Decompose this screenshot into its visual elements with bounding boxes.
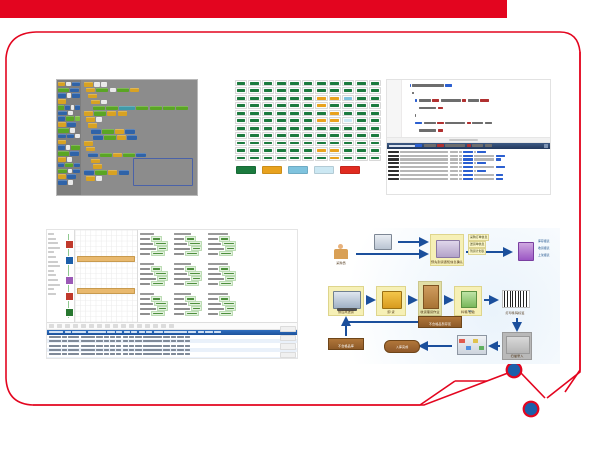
status-cell[interactable] [329, 140, 341, 146]
palette-block-logic[interactable] [66, 116, 74, 121]
block-control[interactable] [107, 111, 116, 116]
table-column-header[interactable] [65, 331, 71, 333]
tree-item[interactable] [48, 251, 54, 253]
status-cell[interactable] [342, 95, 354, 101]
toolbar-button[interactable] [153, 324, 158, 328]
status-cell[interactable] [262, 132, 274, 138]
block-row[interactable] [84, 88, 197, 93]
palette-block-logic[interactable] [58, 105, 64, 110]
status-cell[interactable] [275, 125, 287, 131]
code-line[interactable] [405, 143, 550, 148]
status-cell[interactable] [342, 125, 354, 131]
status-cell[interactable] [288, 125, 300, 131]
palette-block-control[interactable] [58, 140, 66, 145]
status-cell[interactable] [329, 102, 341, 108]
status-cell[interactable] [275, 117, 287, 123]
table-column-header[interactable] [124, 331, 130, 333]
palette-block-text[interactable] [68, 169, 72, 174]
block-text[interactable] [96, 117, 102, 122]
status-cell[interactable] [329, 155, 341, 161]
tree-item[interactable] [48, 293, 56, 295]
block-control[interactable] [84, 111, 93, 116]
palette-block-variable[interactable] [67, 174, 76, 179]
palette-block-text[interactable] [68, 180, 73, 185]
status-cell[interactable] [275, 95, 287, 101]
barcode-label-node[interactable]: 打印条码标签 [499, 286, 531, 316]
palette-block-variable[interactable] [58, 111, 67, 116]
status-cell[interactable] [342, 117, 354, 123]
receiving-desk-node[interactable] [368, 232, 396, 254]
status-cell[interactable] [235, 87, 247, 93]
palette-row[interactable] [58, 128, 80, 132]
status-cell[interactable] [315, 80, 327, 86]
status-cell[interactable] [355, 147, 367, 153]
block-control[interactable] [84, 141, 93, 146]
status-cell[interactable] [288, 110, 300, 116]
status-cell[interactable] [235, 117, 247, 123]
palette-block-text[interactable] [68, 111, 73, 116]
block-control[interactable] [84, 82, 93, 87]
supplier-delivery-node[interactable]: 供应商送货 [328, 286, 364, 316]
blocks-editor-screenshot[interactable] [56, 79, 198, 196]
block-row[interactable] [84, 82, 197, 87]
status-cell[interactable] [262, 147, 274, 153]
code-text-area[interactable] [387, 80, 550, 137]
logistics-flowchart-screenshot[interactable]: 供应商送货卸 货收货理货作业料箱 检验打印条码标签扫描录入入库完成不合格品暂存区… [322, 228, 560, 364]
block-variable[interactable] [125, 129, 135, 134]
palette-row[interactable] [58, 82, 80, 86]
palette-block-variable[interactable] [58, 180, 67, 185]
block-logic[interactable] [102, 129, 114, 134]
palette-row[interactable] [58, 151, 80, 155]
table-column-header[interactable] [154, 331, 163, 333]
status-cell[interactable] [302, 117, 314, 123]
data-group[interactable] [174, 263, 206, 287]
toolbar-button[interactable] [145, 324, 150, 328]
tree-item[interactable] [48, 288, 54, 290]
palette-block-variable[interactable] [75, 105, 80, 110]
blocks-canvas[interactable] [81, 80, 197, 195]
table-column-header[interactable] [72, 331, 86, 333]
block-variable[interactable] [136, 153, 146, 158]
status-cell[interactable] [329, 147, 341, 153]
status-cell[interactable] [302, 132, 314, 138]
block-variable[interactable] [91, 129, 101, 134]
status-cell[interactable] [235, 102, 247, 108]
table-column-header[interactable] [139, 331, 145, 333]
block-row[interactable] [84, 117, 197, 122]
palette-block-text[interactable] [67, 93, 72, 98]
rail-node[interactable] [65, 256, 74, 265]
status-cell[interactable] [288, 95, 300, 101]
toolbar-button[interactable] [49, 324, 54, 328]
palette-block-variable[interactable] [73, 169, 80, 174]
status-cell[interactable] [302, 102, 314, 108]
block-logic[interactable] [123, 153, 135, 158]
sheet-data-groups[interactable] [138, 230, 297, 322]
status-cell[interactable] [369, 117, 381, 123]
toolbar-button[interactable] [137, 324, 142, 328]
table-column-header[interactable] [164, 331, 187, 333]
status-cell[interactable] [235, 95, 247, 101]
toolbar-button[interactable] [97, 324, 102, 328]
tree-item[interactable] [48, 274, 56, 276]
palette-row[interactable] [58, 111, 80, 115]
status-cell[interactable] [355, 110, 367, 116]
code-line[interactable] [405, 105, 550, 110]
status-cell[interactable] [302, 125, 314, 131]
palette-block-variable[interactable] [72, 82, 80, 87]
palette-block-variable[interactable] [67, 122, 76, 127]
toolbar-button[interactable] [73, 324, 78, 328]
toolbar-button[interactable] [161, 324, 166, 328]
palette-block-control[interactable] [58, 122, 66, 127]
palette-block-logic[interactable] [58, 128, 69, 133]
status-cell[interactable] [329, 95, 341, 101]
palette-block-control[interactable] [58, 99, 66, 104]
status-cell[interactable] [342, 155, 354, 161]
block-logic[interactable] [100, 153, 112, 158]
block-logic[interactable] [95, 170, 107, 175]
palette-row[interactable] [58, 146, 80, 150]
rail-node[interactable] [65, 240, 74, 249]
palette-block-logic[interactable] [65, 163, 73, 168]
toolbar-button[interactable] [57, 324, 62, 328]
palette-row[interactable] [58, 134, 80, 138]
palette-block-text[interactable] [66, 82, 71, 87]
status-cell[interactable] [288, 140, 300, 146]
toolbar-button[interactable] [129, 324, 134, 328]
side-button[interactable] [280, 326, 296, 332]
block-row[interactable] [84, 141, 197, 146]
table-side-buttons[interactable] [280, 326, 296, 359]
block-control[interactable] [108, 170, 117, 175]
table-column-header[interactable] [131, 331, 137, 333]
block-control[interactable] [130, 88, 139, 93]
code-line[interactable] [405, 128, 550, 133]
data-group[interactable] [140, 263, 172, 287]
gantt-timeline[interactable] [74, 230, 138, 322]
status-cell[interactable] [342, 140, 354, 146]
palette-block-control[interactable] [58, 157, 66, 162]
status-cell[interactable] [248, 80, 260, 86]
status-cell[interactable] [369, 147, 381, 153]
status-cell[interactable] [315, 87, 327, 93]
block-logic[interactable] [106, 106, 118, 111]
palette-row[interactable] [58, 140, 80, 144]
tree-item[interactable] [48, 270, 54, 272]
order-data-table[interactable] [47, 322, 297, 357]
status-cell[interactable] [302, 95, 314, 101]
block-variable[interactable] [93, 135, 103, 140]
block-row[interactable] [84, 129, 197, 134]
status-cell[interactable] [262, 140, 274, 146]
tree-item[interactable] [48, 256, 56, 258]
block-control[interactable] [118, 111, 127, 116]
status-cell[interactable] [315, 147, 327, 153]
tree-item[interactable] [48, 238, 56, 240]
status-cell[interactable] [235, 80, 247, 86]
toolbar-button[interactable] [169, 324, 174, 328]
status-grid[interactable] [234, 79, 382, 162]
status-cell[interactable] [275, 132, 287, 138]
table-body[interactable] [47, 335, 297, 359]
block-control[interactable] [91, 100, 100, 105]
block-control[interactable] [86, 88, 95, 93]
status-cell[interactable] [355, 132, 367, 138]
block-row[interactable] [84, 153, 197, 158]
block-control[interactable] [113, 153, 122, 158]
status-cell[interactable] [275, 80, 287, 86]
status-cell[interactable] [369, 95, 381, 101]
status-cell[interactable] [302, 140, 314, 146]
palette-block-text[interactable] [66, 145, 70, 150]
status-cell[interactable] [262, 155, 274, 161]
status-cell[interactable] [248, 132, 260, 138]
block-text[interactable] [96, 176, 102, 181]
status-cell[interactable] [275, 102, 287, 108]
status-cell[interactable] [315, 155, 327, 161]
status-grid-screenshot[interactable] [234, 79, 382, 197]
status-cell[interactable] [235, 132, 247, 138]
palette-block-variable[interactable] [74, 163, 80, 168]
status-cell[interactable] [369, 155, 381, 161]
palette-block-variable[interactable] [58, 145, 65, 150]
status-cell[interactable] [315, 140, 327, 146]
nonconforming-store-node[interactable]: 不合格品库 [328, 338, 364, 350]
status-cell[interactable] [288, 155, 300, 161]
rail-node[interactable] [65, 276, 74, 285]
unloading-node[interactable]: 卸 货 [376, 286, 406, 316]
status-cell[interactable] [262, 110, 274, 116]
status-cell[interactable] [248, 125, 260, 131]
block-control[interactable] [117, 135, 126, 140]
putaway-node[interactable] [454, 332, 488, 360]
palette-block-variable[interactable] [58, 116, 65, 121]
status-cell[interactable] [235, 140, 247, 146]
block-control[interactable] [88, 94, 97, 99]
status-cell[interactable] [288, 117, 300, 123]
erp-system-node[interactable]: 预先到货通知信息确认 [430, 234, 464, 266]
table-column-header[interactable] [214, 331, 220, 333]
table-column-header[interactable] [88, 331, 106, 333]
side-button[interactable] [280, 352, 296, 358]
block-logic[interactable] [104, 135, 116, 140]
block-row[interactable] [84, 135, 197, 140]
status-cell[interactable] [248, 147, 260, 153]
tree-item[interactable] [48, 261, 58, 263]
status-cell[interactable] [235, 147, 247, 153]
block-logic[interactable] [176, 106, 188, 111]
status-cell[interactable] [262, 80, 274, 86]
table-column-header[interactable] [146, 331, 152, 333]
palette-block-variable[interactable] [58, 93, 66, 98]
block-logic[interactable] [136, 106, 148, 111]
status-cell[interactable] [248, 155, 260, 161]
table-column-header[interactable] [116, 331, 122, 333]
status-cell[interactable] [329, 132, 341, 138]
code-line[interactable] [405, 83, 550, 88]
status-cell[interactable] [329, 80, 341, 86]
block-variable[interactable] [119, 170, 129, 175]
palette-row[interactable] [58, 157, 80, 161]
palette-row[interactable] [58, 117, 80, 121]
report-node[interactable] [514, 240, 536, 264]
status-cell[interactable] [235, 125, 247, 131]
horizontal-scrollbar[interactable] [387, 137, 550, 143]
palette-block-text[interactable] [71, 105, 74, 110]
toolbar-button[interactable] [113, 324, 118, 328]
gantt-bar[interactable] [77, 256, 135, 262]
side-button[interactable] [280, 335, 296, 341]
status-cell[interactable] [288, 80, 300, 86]
palette-row[interactable] [58, 88, 80, 92]
status-cell[interactable] [329, 87, 341, 93]
palette-block-text[interactable] [67, 157, 72, 162]
status-cell[interactable] [342, 147, 354, 153]
status-cell[interactable] [369, 110, 381, 116]
scan-entry-node[interactable]: 扫描录入 [502, 332, 532, 360]
palette-block-variable[interactable] [72, 93, 80, 98]
rail-node[interactable] [65, 292, 74, 301]
code-line[interactable] [405, 90, 550, 95]
palette-block-logic[interactable] [58, 151, 69, 156]
table-row[interactable] [47, 357, 297, 359]
status-cell[interactable] [248, 117, 260, 123]
table-column-header[interactable] [107, 331, 115, 333]
palette-row[interactable] [58, 94, 80, 98]
status-cell[interactable] [248, 140, 260, 146]
status-cell[interactable] [355, 102, 367, 108]
log-row[interactable] [388, 177, 549, 181]
tree-item[interactable] [48, 247, 60, 249]
data-group[interactable] [174, 293, 206, 317]
code-line[interactable] [405, 113, 550, 118]
status-cell[interactable] [262, 117, 274, 123]
palette-block-variable[interactable] [58, 163, 64, 168]
block-text[interactable] [101, 82, 107, 87]
status-cell[interactable] [369, 125, 381, 131]
palette-block-control[interactable] [58, 174, 66, 179]
status-cell[interactable] [355, 125, 367, 131]
block-row[interactable] [84, 147, 197, 152]
status-cell[interactable] [302, 147, 314, 153]
block-text[interactable] [110, 88, 116, 93]
block-row[interactable] [84, 111, 197, 116]
block-text[interactable] [101, 100, 107, 105]
table-column-header[interactable] [198, 331, 204, 333]
status-cell[interactable] [315, 125, 327, 131]
inbound-complete-node[interactable]: 入库完成 [384, 340, 420, 353]
block-control[interactable] [115, 129, 124, 134]
palette-block-variable[interactable] [70, 151, 79, 156]
side-button[interactable] [280, 343, 296, 349]
tree-item[interactable] [48, 242, 58, 244]
block-row[interactable] [84, 106, 197, 111]
nonconforming-area-node[interactable]: 不合格品暂存区 [418, 316, 462, 328]
block-variable[interactable] [84, 170, 94, 175]
status-cell[interactable] [262, 87, 274, 93]
block-row[interactable] [84, 100, 197, 105]
palette-block-variable[interactable] [58, 134, 66, 139]
block-text[interactable] [94, 82, 100, 87]
status-cell[interactable] [329, 110, 341, 116]
table-column-header[interactable] [49, 331, 63, 333]
palette-block-variable[interactable] [67, 134, 75, 139]
block-variable[interactable] [127, 135, 137, 140]
status-cell[interactable] [288, 102, 300, 108]
palette-block-text[interactable] [75, 134, 80, 139]
status-cell[interactable] [355, 95, 367, 101]
rail-node[interactable] [65, 308, 74, 317]
status-cell[interactable] [342, 110, 354, 116]
status-cell[interactable] [302, 87, 314, 93]
sheet-tree-pane[interactable] [47, 230, 63, 322]
palette-row[interactable] [58, 175, 80, 179]
status-cell[interactable] [288, 87, 300, 93]
palette-row[interactable] [58, 163, 80, 167]
schedule-sheet-screenshot[interactable] [46, 229, 298, 359]
operator-node[interactable]: 采购员 [328, 242, 354, 266]
tree-item[interactable] [48, 284, 60, 286]
tree-item[interactable] [48, 265, 60, 267]
table-column-header[interactable] [188, 331, 196, 333]
status-cell[interactable] [315, 132, 327, 138]
code-line[interactable] [405, 98, 550, 103]
block-row[interactable] [84, 94, 197, 99]
palette-block-variable[interactable] [70, 88, 79, 93]
status-cell[interactable] [342, 132, 354, 138]
status-cell[interactable] [369, 140, 381, 146]
log-row-list[interactable] [387, 149, 550, 182]
status-cell[interactable] [235, 110, 247, 116]
block-variable[interactable] [88, 153, 98, 158]
status-cell[interactable] [355, 155, 367, 161]
toolbar-button[interactable] [105, 324, 110, 328]
palette-block-logic[interactable] [58, 88, 69, 93]
status-cell[interactable] [275, 140, 287, 146]
block-control[interactable] [86, 117, 95, 122]
status-cell[interactable] [248, 95, 260, 101]
status-cell[interactable] [302, 80, 314, 86]
palette-row[interactable] [58, 99, 80, 103]
status-cell[interactable] [235, 155, 247, 161]
status-cell[interactable] [355, 140, 367, 146]
status-cell[interactable] [262, 102, 274, 108]
block-control[interactable] [88, 123, 97, 128]
blocks-palette[interactable] [57, 80, 81, 195]
status-cell[interactable] [248, 110, 260, 116]
data-group[interactable] [174, 233, 206, 257]
palette-block-math[interactable] [75, 116, 80, 121]
status-cell[interactable] [302, 110, 314, 116]
status-cell[interactable] [355, 87, 367, 93]
status-cell[interactable] [369, 87, 381, 93]
data-group[interactable] [140, 233, 172, 257]
status-cell[interactable] [288, 147, 300, 153]
palette-block-logic[interactable] [58, 169, 67, 174]
tree-item[interactable] [48, 233, 54, 235]
block-control[interactable] [86, 176, 95, 181]
status-cell[interactable] [342, 102, 354, 108]
status-cell[interactable] [288, 132, 300, 138]
palette-row[interactable] [58, 180, 80, 184]
block-logic[interactable] [117, 88, 129, 93]
data-group[interactable] [208, 233, 240, 257]
table-column-header[interactable] [205, 331, 213, 333]
toolbar-button[interactable] [65, 324, 70, 328]
block-logic[interactable] [150, 106, 162, 111]
